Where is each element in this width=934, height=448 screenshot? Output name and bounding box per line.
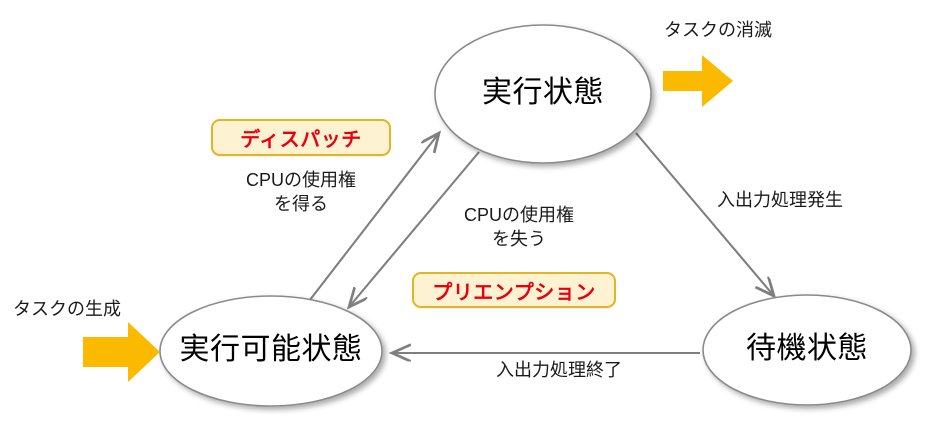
state-transition-diagram: 実行状態 実行可能状態 待機状態 ディスパッチ プリエンプション CPUの使用権…: [0, 0, 934, 448]
external-task-create-label: タスクの生成: [13, 298, 121, 321]
node-ready[interactable]: [160, 296, 382, 406]
edge-io-end-label: 入出力処理終了: [479, 358, 639, 382]
block-arrow-task-create: [83, 322, 160, 382]
badge-preemption: プリエンプション: [412, 272, 616, 308]
external-task-delete-label: タスクの消滅: [664, 19, 772, 42]
node-running[interactable]: [435, 25, 651, 163]
badge-dispatch: ディスパッチ: [211, 119, 391, 156]
edge-preemption-label: CPUの使用権 を失う: [432, 203, 606, 252]
edge-dispatch-label: CPUの使用権 を得る: [213, 168, 389, 217]
edge-io-start-label: 入出力処理発生: [717, 188, 877, 212]
node-waiting[interactable]: [703, 295, 911, 405]
edge-io-start-line: [636, 133, 774, 296]
block-arrow-task-delete: [663, 55, 733, 107]
